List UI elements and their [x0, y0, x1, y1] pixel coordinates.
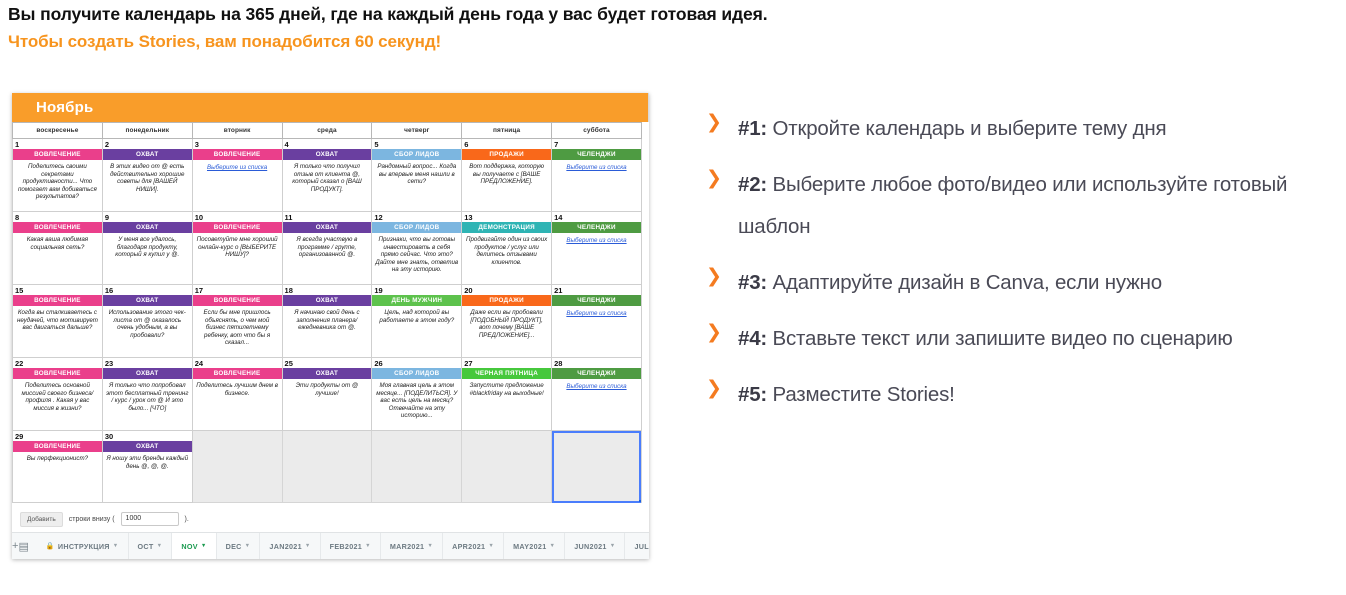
calendar-cell-day[interactable]: 3ВОВЛЕЧЕНИЕВыберите из списка [192, 139, 282, 212]
calendar-day-number: 6 [462, 139, 551, 149]
calendar-week-row: 29ВОВЛЕЧЕНИЕВы перфекционист?30ОХВАТЯ но… [13, 431, 642, 503]
dow-header-cell: понедельник [102, 123, 192, 139]
step-item: ❯#5: Разместите Stories! [706, 374, 1342, 416]
calendar-cell-day[interactable]: 5СБОР ЛИДОВРандомный вопрос... Когда вы … [372, 139, 462, 212]
sheet-tab-label: FEB2021 [330, 542, 362, 551]
sheet-tab-label: JUL20 [634, 542, 649, 551]
calendar-day-number: 13 [462, 212, 551, 222]
chevron-down-icon[interactable]: ▼ [550, 543, 556, 549]
step-text: #3: Адаптируйте дизайн в Canva, если нуж… [738, 262, 1162, 304]
calendar-cell-text: Цель, над которой вы работаете в этом го… [372, 306, 461, 356]
calendar-body: 1ВОВЛЕЧЕНИЕПоделитесь своими секретами п… [13, 139, 642, 503]
chevron-down-icon[interactable]: ▼ [305, 543, 311, 549]
calendar-week-row: 15ВОВЛЕЧЕНИЕКогда вы сталкиваетесь с неу… [13, 285, 642, 358]
calendar-cell-text: Посоветуйте мне хороший онлайн-курс о [В… [193, 233, 282, 283]
calendar-day-number: 11 [283, 212, 372, 222]
calendar-day-number: 19 [372, 285, 461, 295]
calendar-cell-day[interactable]: 7ЧЕЛЕНДЖИВыберите из списка [552, 139, 642, 212]
calendar-category-badge: ОХВАТ [283, 295, 372, 306]
calendar-cell-day[interactable]: 16ОХВАТИспользование этого чек-листа от … [102, 285, 192, 358]
calendar-category-badge: ОХВАТ [283, 149, 372, 160]
calendar-category-badge: СБОР ЛИДОВ [372, 368, 461, 379]
calendar-cell-day[interactable]: 11ОХВАТЯ всегда участвую в программе / г… [282, 212, 372, 285]
sheet-tab-label: NOV [181, 542, 197, 551]
calendar-cell-empty[interactable] [462, 431, 552, 503]
add-rows-label-after: ). [185, 516, 189, 523]
sheet-tab-mar2021[interactable]: MAR2021▼ [381, 533, 443, 559]
chevron-down-icon[interactable]: ▼ [488, 543, 494, 549]
calendar-cell-text: Я начинаю свой день с заполнения планера… [283, 306, 372, 356]
day-of-week-header-row: воскресенье понедельник вторник среда че… [13, 123, 642, 139]
calendar-day-number: 29 [13, 431, 102, 441]
calendar-day-number: 10 [193, 212, 282, 222]
sheet-tab-feb2021[interactable]: FEB2021▼ [321, 533, 381, 559]
calendar-cell-day[interactable]: 27ЧЕРНАЯ ПЯТНИЦАЗапустите предложение #b… [462, 358, 552, 431]
calendar-cell-day[interactable]: 24ВОВЛЕЧЕНИЕПоделитесь лучшим днем в биз… [192, 358, 282, 431]
calendar-week-row: 22ВОВЛЕЧЕНИЕПоделитесь основной миссией … [13, 358, 642, 431]
calendar-cell-day[interactable]: 22ВОВЛЕЧЕНИЕПоделитесь основной миссией … [13, 358, 103, 431]
step-number: #5: [738, 383, 767, 406]
step-number: #4: [738, 327, 767, 350]
add-rows-button[interactable]: Добавить [20, 512, 63, 527]
calendar-cell-empty[interactable] [192, 431, 282, 503]
chevron-down-icon[interactable]: ▼ [113, 543, 119, 549]
calendar-cell-text: У меня все удалось, благодаря продукту, … [103, 233, 192, 283]
calendar-cell-day[interactable]: 18ОХВАТЯ начинаю свой день с заполнения … [282, 285, 372, 358]
calendar-cell-text: Признаки, что вы готовы инвестировать в … [372, 233, 461, 283]
calendar-cell-day[interactable]: 1ВОВЛЕЧЕНИЕПоделитесь своими секретами п… [13, 139, 103, 212]
calendar-cell-text: Я только что получил отзыв от клиента @,… [283, 160, 372, 210]
calendar-cell-text: Поделитесь основной миссией своего бизне… [13, 379, 102, 429]
month-title: Ноябрь [36, 99, 93, 116]
calendar-category-badge: ВОВЛЕЧЕНИЕ [13, 368, 102, 379]
step-label: Вставьте текст или запишите видео по сце… [767, 327, 1232, 350]
calendar-day-number: 15 [13, 285, 102, 295]
calendar-category-badge: ПРОДАЖИ [462, 295, 551, 306]
calendar-cell-day[interactable]: 15ВОВЛЕЧЕНИЕКогда вы сталкиваетесь с неу… [13, 285, 103, 358]
calendar-cell-day[interactable]: 30ОХВАТЯ ношу эти бренды каждый день @, … [102, 431, 192, 503]
calendar-day-number: 3 [193, 139, 282, 149]
chevron-right-icon: ❯ [706, 318, 738, 347]
calendar-day-number: 17 [193, 285, 282, 295]
calendar-category-badge: ДЕНЬ МУЖЧИН [372, 295, 461, 306]
chevron-right-icon: ❯ [706, 374, 738, 403]
calendar-day-number: 20 [462, 285, 551, 295]
dow-header-cell: воскресенье [13, 123, 103, 139]
calendar-cell-day[interactable]: 14ЧЕЛЕНДЖИВыберите из списка [552, 212, 642, 285]
dow-header-cell: суббота [552, 123, 642, 139]
calendar-cell-text: Вы перфекционист? [13, 452, 102, 502]
calendar-day-number: 24 [193, 358, 282, 368]
calendar-cell-text: Рандомный вопрос... Когда вы впервые мен… [372, 160, 461, 210]
calendar-day-number: 12 [372, 212, 461, 222]
calendar-cell-day[interactable]: 21ЧЕЛЕНДЖИВыберите из списка [552, 285, 642, 358]
calendar-cell-day[interactable]: 23ОХВАТЯ только что попробовал этот бесп… [102, 358, 192, 431]
step-label: Выберите любое фото/видео или используйт… [738, 173, 1287, 238]
calendar-category-badge: ЧЕЛЕНДЖИ [552, 222, 641, 233]
calendar-cell-day[interactable]: 19ДЕНЬ МУЖЧИНЦель, над которой вы работа… [372, 285, 462, 358]
calendar-cell-text: Я только что попробовал этот бесплатный … [103, 379, 192, 429]
calendar-cell-link[interactable]: Выберите из списка [552, 379, 641, 430]
calendar-category-badge: СБОР ЛИДОВ [372, 149, 461, 160]
calendar-cell-day[interactable]: 2ОХВАТВ этих видео от @ есть действитель… [102, 139, 192, 212]
calendar-category-badge: ВОВЛЕЧЕНИЕ [13, 222, 102, 233]
calendar-cell-link[interactable]: Выберите из списка [552, 306, 641, 357]
all-sheets-menu-icon[interactable]: ▤ [18, 533, 28, 559]
calendar-day-number: 23 [103, 358, 192, 368]
calendar-day-number: 30 [103, 431, 192, 441]
chevron-right-icon: ❯ [706, 108, 738, 137]
calendar-day-number: 9 [103, 212, 192, 222]
calendar-day-number: 26 [372, 358, 461, 368]
calendar-cell-link[interactable]: Выберите из списка [552, 160, 641, 211]
step-label: Откройте календарь и выберите тему дня [767, 117, 1166, 140]
step-item: ❯#3: Адаптируйте дизайн в Canva, если ну… [706, 262, 1342, 304]
calendar-day-number: 14 [552, 212, 641, 222]
calendar-category-badge: ВОВЛЕЧЕНИЕ [13, 441, 102, 452]
calendar-cell-text: Моя главная цель в этом месяце... [ПОДЕЛ… [372, 379, 461, 429]
calendar-cell-day[interactable]: 9ОХВАТУ меня все удалось, благодаря прод… [102, 212, 192, 285]
calendar-category-badge: ОХВАТ [103, 222, 192, 233]
calendar-cell-text: Эти продукты от @ лучшие! [283, 379, 372, 429]
step-text: #5: Разместите Stories! [738, 374, 955, 416]
calendar-cell-text: В этих видео от @ есть действительно хор… [103, 160, 192, 210]
calendar-day-number: 5 [372, 139, 461, 149]
calendar-cell-link[interactable]: Выберите из списка [552, 233, 641, 284]
sheet-tab-label: JAN2021 [269, 542, 301, 551]
calendar-category-badge: ОХВАТ [283, 222, 372, 233]
calendar-cell-day[interactable]: 25ОХВАТЭти продукты от @ лучшие! [282, 358, 372, 431]
step-text: #1: Откройте календарь и выберите тему д… [738, 108, 1166, 150]
calendar-category-badge: ДЕМОНСТРАЦИЯ [462, 222, 551, 233]
step-label: Адаптируйте дизайн в Canva, если нужно [767, 271, 1162, 294]
calendar-category-badge: ОХВАТ [103, 149, 192, 160]
calendar-category-badge: ВОВЛЕЧЕНИЕ [13, 149, 102, 160]
step-number: #2: [738, 173, 767, 196]
calendar-cell-text: Продвигайте один из своих продуктов / ус… [462, 233, 551, 283]
sheet-tab-bar: + ▤ 🔒ИНСТРУКЦИЯ▼OCT▼NOV▼DEC▼JAN2021▼FEB2… [12, 532, 649, 559]
step-item: ❯#4: Вставьте текст или запишите видео п… [706, 318, 1342, 360]
calendar-category-badge: ОХВАТ [283, 368, 372, 379]
step-number: #1: [738, 117, 767, 140]
calendar-day-number: 16 [103, 285, 192, 295]
spreadsheet-screenshot: Ноябрь воскресенье понедельник вторник с… [12, 93, 649, 559]
calendar-day-number: 28 [552, 358, 641, 368]
sheet-tab-label: MAY2021 [513, 542, 546, 551]
chevron-down-icon[interactable]: ▼ [201, 543, 207, 549]
calendar-cell-text: Запустите предложение #blackfriday на вы… [462, 379, 551, 429]
step-item: ❯#1: Откройте календарь и выберите тему … [706, 108, 1342, 150]
calendar-category-badge: ЧЕЛЕНДЖИ [552, 368, 641, 379]
calendar-week-row: 8ВОВЛЕЧЕНИЕКакая ваша любимая социальная… [13, 212, 642, 285]
calendar-category-badge: ОХВАТ [103, 368, 192, 379]
calendar-category-badge: ВОВЛЕЧЕНИЕ [193, 222, 282, 233]
calendar-cell-text: Когда вы сталкиваетесь с неудачей, что м… [13, 306, 102, 356]
calendar-cell-day[interactable]: 29ВОВЛЕЧЕНИЕВы перфекционист? [13, 431, 103, 503]
calendar-cell-day[interactable]: 13ДЕМОНСТРАЦИЯПродвигайте один из своих … [462, 212, 552, 285]
chevron-down-icon[interactable]: ▼ [610, 543, 616, 549]
sheet-tab-label: ИНСТРУКЦИЯ [58, 542, 110, 551]
dow-header-cell: четверг [372, 123, 462, 139]
sheet-tab-nov[interactable]: NOV▼ [172, 533, 216, 559]
add-rows-strip: Добавить строки внизу ( 1000 ). [12, 503, 649, 534]
calendar-category-badge: ПРОДАЖИ [462, 149, 551, 160]
calendar-cell-day[interactable]: 20ПРОДАЖИДаже если вы пробовали [ПОДОБНЫ… [462, 285, 552, 358]
calendar-category-badge: ОХВАТ [103, 295, 192, 306]
calendar-table: воскресенье понедельник вторник среда че… [12, 122, 642, 503]
calendar-cell-day[interactable]: 26СБОР ЛИДОВМоя главная цель в этом меся… [372, 358, 462, 431]
add-rows-count-input[interactable]: 1000 [121, 512, 179, 526]
chevron-right-icon: ❯ [706, 164, 738, 193]
chevron-down-icon[interactable]: ▼ [245, 543, 251, 549]
calendar-cell-day[interactable]: 4ОХВАТЯ только что получил отзыв от клие… [282, 139, 372, 212]
sheet-tab-may2021[interactable]: MAY2021▼ [504, 533, 565, 559]
calendar-category-badge: ВОВЛЕЧЕНИЕ [193, 295, 282, 306]
chevron-down-icon[interactable]: ▼ [157, 543, 163, 549]
calendar-cell-day[interactable]: 6ПРОДАЖИВот поддержка, которую вы получа… [462, 139, 552, 212]
calendar-day-number: 8 [13, 212, 102, 222]
calendar-cell-day[interactable]: 8ВОВЛЕЧЕНИЕКакая ваша любимая социальная… [13, 212, 103, 285]
sheet-tab--[interactable]: 🔒ИНСТРУКЦИЯ▼ [37, 533, 129, 559]
calendar-category-badge: ВОВЛЕЧЕНИЕ [193, 368, 282, 379]
step-item: ❯#2: Выберите любое фото/видео или испол… [706, 164, 1342, 248]
sheet-tab-oct[interactable]: OCT▼ [129, 533, 173, 559]
headline-block: Вы получите календарь на 365 дней, где н… [8, 2, 1338, 54]
calendar-day-number: 4 [283, 139, 372, 149]
calendar-cell-text: Я ношу эти бренды каждый день @, @, @. [103, 452, 192, 502]
calendar-category-badge: СБОР ЛИДОВ [372, 222, 461, 233]
sheet-tab-dec[interactable]: DEC▼ [217, 533, 261, 559]
calendar-cell-day[interactable]: 17ВОВЛЕЧЕНИЕЕсли бы мне пришлось объясня… [192, 285, 282, 358]
headline-line-2: Чтобы создать Stories, вам понадобится 6… [8, 29, 1338, 54]
calendar-cell-text: Использование этого чек-листа от @ оказа… [103, 306, 192, 356]
calendar-day-number: 21 [552, 285, 641, 295]
calendar-category-badge: ВОВЛЕЧЕНИЕ [13, 295, 102, 306]
calendar-day-number: 22 [13, 358, 102, 368]
chevron-down-icon[interactable]: ▼ [427, 543, 433, 549]
calendar-cell-text: Поделитесь своими секретами продуктивнос… [13, 160, 102, 210]
headline-line-1: Вы получите календарь на 365 дней, где н… [8, 2, 1338, 27]
calendar-day-number: 25 [283, 358, 372, 368]
calendar-cell-empty[interactable] [372, 431, 462, 503]
calendar-day-number: 7 [552, 139, 641, 149]
add-rows-label-before: строки внизу ( [69, 516, 115, 523]
dow-header-cell: среда [282, 123, 372, 139]
step-number: #3: [738, 271, 767, 294]
calendar-cell-text: Даже если вы пробовали [ПОДОБНЫЙ ПРОДУКТ… [462, 306, 551, 356]
sheet-tab-jul20[interactable]: JUL20▼ [625, 533, 649, 559]
calendar-cell-day[interactable]: 12СБОР ЛИДОВПризнаки, что вы готовы инве… [372, 212, 462, 285]
calendar-category-badge: ЧЕРНАЯ ПЯТНИЦА [462, 368, 551, 379]
sheet-tab-jan2021[interactable]: JAN2021▼ [260, 533, 320, 559]
sheet-tab-label: APR2021 [452, 542, 485, 551]
calendar-cell-text: Я всегда участвую в программе / группе, … [283, 233, 372, 283]
sheet-tab-apr2021[interactable]: APR2021▼ [443, 533, 504, 559]
step-text: #2: Выберите любое фото/видео или исполь… [738, 164, 1342, 248]
calendar-cell-link[interactable]: Выберите из списка [193, 160, 282, 211]
calendar-category-badge: ВОВЛЕЧЕНИЕ [193, 149, 282, 160]
dow-header-cell: пятница [462, 123, 552, 139]
sheet-tab-label: DEC [226, 542, 242, 551]
calendar-day-number: 1 [13, 139, 102, 149]
calendar-cell-empty[interactable] [552, 431, 642, 503]
month-title-bar: Ноябрь [12, 93, 649, 122]
calendar-cell-text: Вот поддержка, которую вы получаете с [В… [462, 160, 551, 210]
calendar-cell-day[interactable]: 28ЧЕЛЕНДЖИВыберите из списка [552, 358, 642, 431]
calendar-cell-text: Если бы мне пришлось объяснять, о чем мо… [193, 306, 282, 356]
calendar-day-number: 2 [103, 139, 192, 149]
calendar-day-number: 18 [283, 285, 372, 295]
calendar-category-badge: ОХВАТ [103, 441, 192, 452]
chevron-down-icon[interactable]: ▼ [365, 543, 371, 549]
sheet-tab-label: OCT [138, 542, 154, 551]
calendar-cell-day[interactable]: 10ВОВЛЕЧЕНИЕПосоветуйте мне хороший онла… [192, 212, 282, 285]
sheet-tabs-host: 🔒ИНСТРУКЦИЯ▼OCT▼NOV▼DEC▼JAN2021▼FEB2021▼… [37, 533, 649, 559]
calendar-category-badge: ЧЕЛЕНДЖИ [552, 295, 641, 306]
sheet-tab-jun2021[interactable]: JUN2021▼ [565, 533, 625, 559]
chevron-right-icon: ❯ [706, 262, 738, 291]
calendar-cell-text: Какая ваша любимая социальная сеть? [13, 233, 102, 283]
steps-list: ❯#1: Откройте календарь и выберите тему … [706, 108, 1342, 430]
sheet-tab-label: JUN2021 [574, 542, 606, 551]
calendar-cell-text: Поделитесь лучшим днем в бизнесе. [193, 379, 282, 429]
dow-header-cell: вторник [192, 123, 282, 139]
calendar-week-row: 1ВОВЛЕЧЕНИЕПоделитесь своими секретами п… [13, 139, 642, 212]
calendar-cell-empty[interactable] [282, 431, 372, 503]
step-text: #4: Вставьте текст или запишите видео по… [738, 318, 1233, 360]
sheet-tab-label: MAR2021 [390, 542, 424, 551]
step-label: Разместите Stories! [767, 383, 955, 406]
calendar-day-number: 27 [462, 358, 551, 368]
lock-icon: 🔒 [46, 542, 55, 550]
calendar-category-badge: ЧЕЛЕНДЖИ [552, 149, 641, 160]
